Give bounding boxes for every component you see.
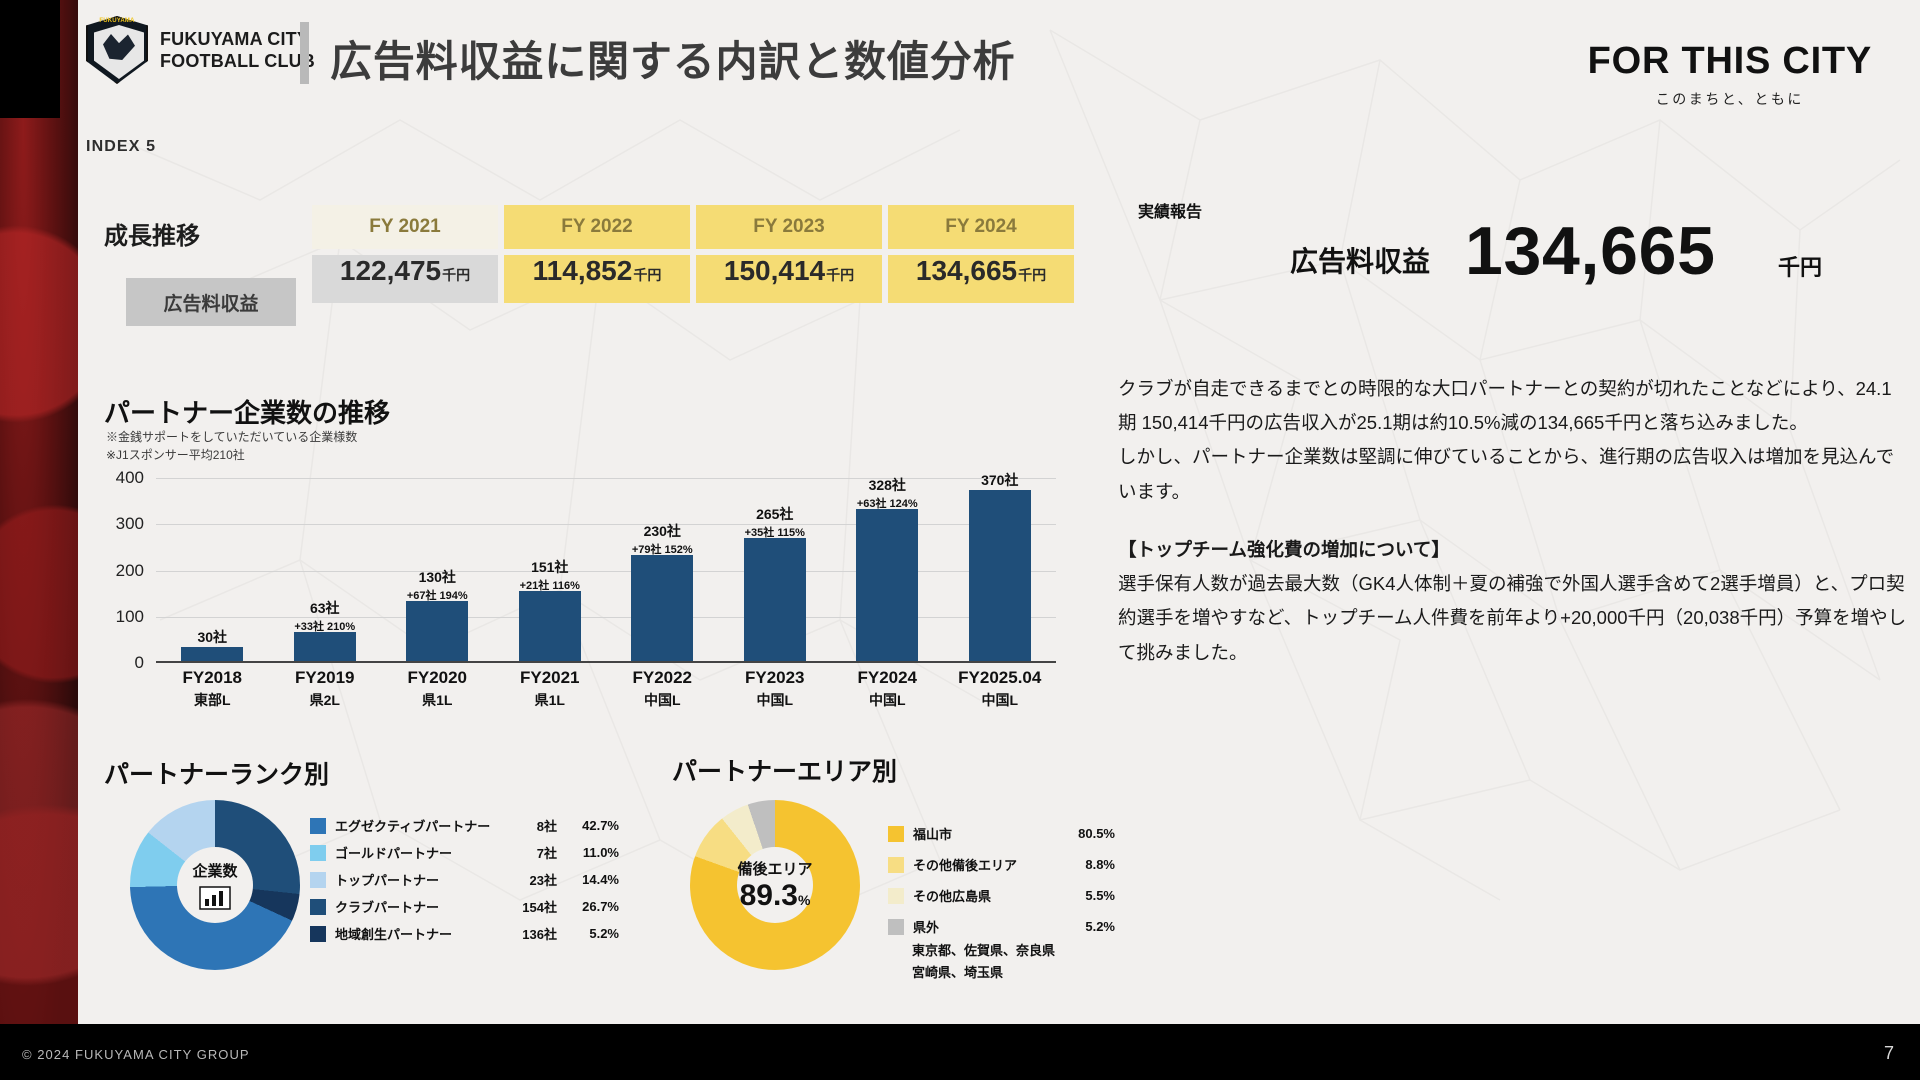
growth-year-cell: FY 2023 [696,205,882,249]
chart-x-label: FY2025.04中国L [935,668,1065,710]
legend-label: その他広島県 [913,886,1053,905]
partner-count-note-2: ※J1スポンサー平均210社 [106,446,357,464]
club-logo: FUKUYAMA FUKUYAMA CITY FOOTBALL CLUB [86,16,315,84]
legend-swatch [888,826,904,842]
growth-year-cell: FY 2022 [504,205,690,249]
rank-donut-chart: 企業数 [130,800,300,970]
legend-count: 8社 [503,816,557,835]
chart-x-label-sub: 県1L [372,690,502,710]
chart-bar [406,601,468,661]
chart-x-label-main: FY2018 [182,668,242,687]
chart-bar-label: 130社+67社 194% [372,567,502,603]
bar-chart-icon [198,885,232,911]
report-kpi-unit: 千円 [1778,250,1822,282]
legend-count: 154社 [503,897,557,916]
legend-percent: 5.2% [557,926,619,941]
chart-x-label-sub: 県1L [485,690,615,710]
legend-label: トップパートナー [335,870,503,889]
growth-value-unit: 千円 [633,265,661,285]
legend-percent: 14.4% [557,872,619,887]
legend-label: その他備後エリア [913,855,1053,874]
growth-value-cell: 114,852 千円 [504,255,690,303]
legend-item: 県外5.2% [888,911,1115,942]
area-chart-title: パートナーエリア別 [672,752,897,788]
chart-x-label-main: FY2025.04 [958,668,1041,687]
chart-x-label-main: FY2022 [632,668,692,687]
chart-bar-delta: +35社 115% [710,524,840,540]
chart-x-label-main: FY2024 [857,668,917,687]
chart-x-label: FY2019県2L [260,668,390,710]
chart-x-label-sub: 東部L [147,690,277,710]
legend-percent: 80.5% [1053,826,1115,841]
area-donut-chart: 備後エリア 89.3 % [690,800,860,970]
growth-value-unit: 千円 [442,265,470,285]
area-chart-footnotes: 東京都、佐賀県、奈良県 宮崎県、埼玉県 [912,940,1055,984]
chart-x-label: FY2020県1L [372,668,502,710]
chart-bar-label: 328社+63社 124% [822,475,952,511]
club-crest-icon: FUKUYAMA [86,16,148,84]
growth-year-cell: FY 2024 [888,205,1074,249]
chart-bar-label: 230社+79社 152% [597,521,727,557]
chart-x-label: FY2023中国L [710,668,840,710]
report-small-title: 実績報告 [1138,198,1202,222]
area-donut-center-unit: % [798,892,810,908]
growth-value-cell: 122,475 千円 [312,255,498,303]
chart-bar-value: 265社 [756,506,793,522]
chart-x-label-main: FY2021 [520,668,580,687]
legend-swatch [888,888,904,904]
chart-x-label-sub: 中国L [822,690,952,710]
legend-label: 地域創生パートナー [335,924,503,943]
chart-bar [744,538,806,661]
legend-swatch [310,845,326,861]
chart-x-label: FY2024中国L [822,668,952,710]
chart-y-axis: 0100200300400 [100,478,152,663]
growth-value-unit: 千円 [826,265,854,285]
chart-bar-label: 63社+33社 210% [260,598,390,634]
chart-bar [519,591,581,661]
growth-row-label: 広告料収益 [126,278,296,326]
chart-plot-area: 30社63社+33社 210%130社+67社 194%151社+21社 116… [156,478,1056,663]
legend-item: その他広島県5.5% [888,880,1115,911]
legend-label: クラブパートナー [335,897,503,916]
report-paragraph-1: クラブが自走できるまでとの時限的な大口パートナーとの契約が切れたことなどにより、… [1118,372,1908,440]
report-kpi-value: 134,665 [1465,212,1716,290]
chart-x-label-sub: 中国L [935,690,1065,710]
legend-percent: 11.0% [557,845,619,860]
area-footnote-1: 東京都、佐賀県、奈良県 [912,940,1055,962]
legend-count: 136社 [503,924,557,943]
growth-table: FY 2021 FY 2022 FY 2023 FY 2024 122,475 … [312,205,1074,303]
legend-swatch [310,926,326,942]
legend-count: 23社 [503,870,557,889]
title-divider [300,22,309,84]
growth-value-cell: 150,414 千円 [696,255,882,303]
brand-slogan: FOR THIS CITY このまちと、ともに [1588,40,1872,109]
chart-bar-value: 151社 [531,559,568,575]
growth-table-header-row: FY 2021 FY 2022 FY 2023 FY 2024 [312,205,1074,249]
brand-slogan-sub: このまちと、ともに [1588,89,1872,109]
page-title: 広告料収益に関する内訳と数値分析 [330,28,1015,89]
legend-item: クラブパートナー154社26.7% [310,893,619,920]
chart-bar-label: 265社+35社 115% [710,504,840,540]
rank-donut-center-label: 企業数 [192,860,237,881]
legend-percent: 5.2% [1053,919,1115,934]
legend-label: 県外 [913,917,1053,936]
legend-swatch [888,857,904,873]
rank-donut-center: 企業数 [177,847,253,923]
growth-value: 114,852 [533,255,633,287]
chart-x-label-main: FY2020 [407,668,467,687]
brand-slogan-main: FOR THIS CITY [1588,40,1872,83]
growth-table-value-row: 122,475 千円 114,852 千円 150,414 千円 134,665… [312,255,1074,303]
report-subheading: 【トップチーム強化費の増加について】 [1118,533,1908,567]
legend-swatch [888,919,904,935]
chart-x-label: FY2021県1L [485,668,615,710]
decorative-black-corner [0,0,60,118]
chart-y-tick: 200 [116,561,144,581]
chart-x-label-main: FY2019 [295,668,355,687]
index-label: INDEX 5 [86,138,156,156]
chart-x-axis: FY2018東部LFY2019県2LFY2020県1LFY2021県1LFY20… [156,668,1056,724]
rank-chart-title: パートナーランク別 [104,755,329,791]
partner-count-notes: ※金銭サポートをしていただいている企業様数 ※J1スポンサー平均210社 [106,428,357,464]
legend-percent: 26.7% [557,899,619,914]
legend-item: その他備後エリア8.8% [888,849,1115,880]
chart-y-tick: 400 [116,468,144,488]
growth-value-cell: 134,665 千円 [888,255,1074,303]
chart-bar-value: 328社 [869,477,906,493]
legend-percent: 8.8% [1053,857,1115,872]
area-footnote-2: 宮崎県、埼玉県 [912,962,1055,984]
chart-bar [969,490,1031,661]
copyright-text: © 2024 FUKUYAMA CITY GROUP [22,1047,250,1062]
area-donut-center: 備後エリア 89.3 % [737,847,813,923]
legend-item: エグゼクティブパートナー8社42.7% [310,812,619,839]
crest-text: FUKUYAMA [86,18,148,24]
legend-label: ゴールドパートナー [335,843,503,862]
partner-count-title: パートナー企業数の推移 [104,393,390,430]
decorative-left-band [0,0,78,1080]
chart-x-label: FY2022中国L [597,668,727,710]
chart-bar-label: 30社 [147,627,277,647]
chart-bar-value: 63社 [310,600,340,616]
chart-bar-label: 151社+21社 116% [485,557,615,593]
chart-bar-delta: +79社 152% [597,541,727,557]
chart-bar-delta: +21社 116% [485,577,615,593]
page-number: 7 [1884,1043,1894,1064]
growth-value-unit: 千円 [1018,265,1046,285]
chart-x-label: FY2018東部L [147,668,277,710]
chart-bar [294,632,356,661]
chart-bar-value: 230社 [644,523,681,539]
legend-item: 福山市80.5% [888,818,1115,849]
chart-bar-delta: +67社 194% [372,587,502,603]
legend-swatch [310,872,326,888]
legend-percent: 42.7% [557,818,619,833]
chart-bar-value: 30社 [197,629,227,645]
chart-y-tick: 0 [135,653,144,673]
legend-item: ゴールドパートナー7社11.0% [310,839,619,866]
chart-x-label-sub: 中国L [597,690,727,710]
growth-section-label: 成長推移 [104,216,200,251]
chart-bar [856,509,918,661]
chart-bar-value: 130社 [419,569,456,585]
report-kpi-label: 広告料収益 [1290,240,1430,280]
chart-x-label-sub: 県2L [260,690,390,710]
legend-swatch [310,818,326,834]
rank-chart-legend: エグゼクティブパートナー8社42.7%ゴールドパートナー7社11.0%トップパー… [310,812,619,947]
report-paragraph-3: 選手保有人数が過去最大数（GK4人体制＋夏の補強で外国人選手含めて2選手増員）と… [1118,567,1908,670]
legend-label: エグゼクティブパートナー [335,816,503,835]
chart-x-label-sub: 中国L [710,690,840,710]
growth-value: 134,665 [916,255,1017,287]
legend-count: 7社 [503,843,557,862]
chart-bar-label: 370社 [935,470,1065,490]
legend-swatch [310,899,326,915]
report-paragraph-2: しかし、パートナー企業数は堅調に伸びていることから、進行期の広告収入は増加を見込… [1118,440,1908,508]
growth-year-cell: FY 2021 [312,205,498,249]
chart-bar-value: 370社 [981,472,1018,488]
legend-item: トップパートナー23社14.4% [310,866,619,893]
chart-bar-delta: +63社 124% [822,495,952,511]
growth-value: 122,475 [340,255,441,287]
legend-percent: 5.5% [1053,888,1115,903]
partner-count-note-1: ※金銭サポートをしていただいている企業様数 [106,428,357,446]
report-body: クラブが自走できるまでとの時限的な大口パートナーとの契約が切れたことなどにより、… [1118,372,1908,670]
chart-bar-delta: +33社 210% [260,618,390,634]
legend-item: 地域創生パートナー136社5.2% [310,920,619,947]
footer-bar [0,1024,1920,1080]
legend-label: 福山市 [913,824,1053,843]
growth-value: 150,414 [724,255,825,287]
area-donut-center-value: 89.3 [740,879,798,913]
area-donut-center-label: 備後エリア [737,858,812,879]
chart-bar [181,647,243,661]
partner-count-bar-chart: 0100200300400 30社63社+33社 210%130社+67社 19… [100,478,1060,693]
area-chart-legend: 福山市80.5%その他備後エリア8.8%その他広島県5.5%県外5.2% [888,818,1115,942]
chart-bar [631,555,693,661]
chart-x-label-main: FY2023 [745,668,805,687]
chart-y-tick: 300 [116,514,144,534]
club-name-line1: FUKUYAMA CITY [160,28,315,51]
chart-y-tick: 100 [116,607,144,627]
club-name-line2: FOOTBALL CLUB [160,50,315,73]
